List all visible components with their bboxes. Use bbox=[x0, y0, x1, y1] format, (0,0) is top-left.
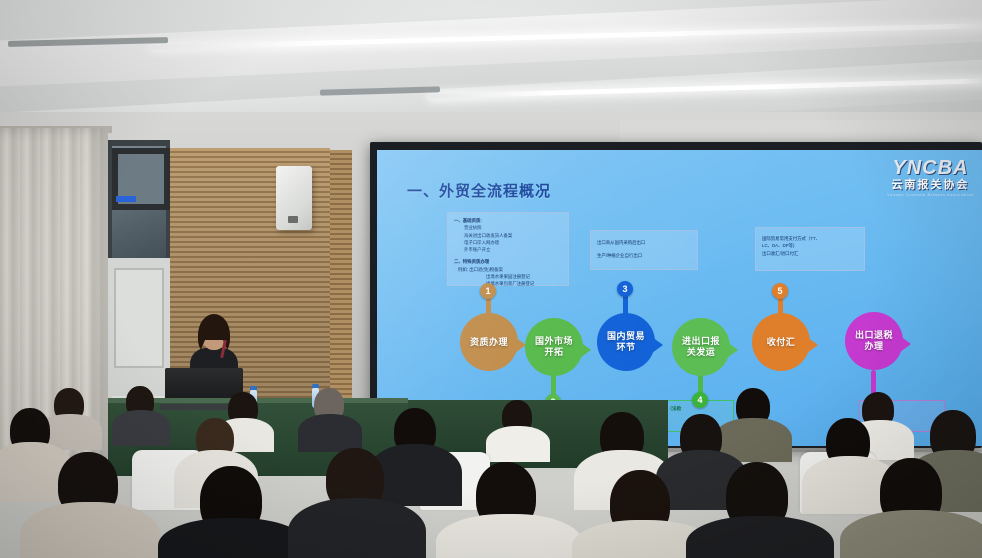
flow-node-6-label: 办理 bbox=[855, 341, 893, 352]
box-line: 一、基础资质: bbox=[454, 217, 562, 224]
box-line: 出口商从国内采购后出口 bbox=[597, 239, 691, 246]
box-line: 海关进出口收发货人备案 bbox=[454, 232, 562, 239]
flow-node-3-label: 国内贸易 bbox=[607, 331, 645, 342]
box-line: 电子口岸入网办理 bbox=[454, 239, 562, 246]
audience-shoulders bbox=[486, 426, 550, 462]
slide-box-domestic-trade: 出口商从国内采购后出口 生产\种植企业自行出口 bbox=[590, 230, 698, 270]
flow-node-4-label: 进出口报 bbox=[682, 336, 720, 347]
flow-node-1-label: 资质办理 bbox=[470, 337, 508, 348]
slide-title: 一、外贸全流程概况 bbox=[407, 180, 551, 201]
box-line: 出境水果果园注册登记 bbox=[454, 273, 562, 280]
box-line: 出境水果包装厂注册登记 bbox=[454, 280, 562, 287]
flow-node-6-label: 出口退税 bbox=[855, 330, 893, 341]
water-bottle-cap bbox=[250, 386, 257, 390]
flow-node-5-label: 收付汇 bbox=[767, 337, 796, 348]
box-line: 生产\种植企业自行出口 bbox=[597, 252, 691, 259]
flow-node-3-bubble: 国内贸易 环节 bbox=[597, 313, 655, 371]
blue-indicator-light bbox=[116, 196, 136, 202]
audience-shoulders-front bbox=[288, 498, 426, 558]
flow-node-2-label: 国外市场 bbox=[535, 336, 573, 347]
audience-shoulders-front bbox=[436, 514, 582, 558]
slide-box-qualification: 一、基础资质: 营业执照 海关进出口收发货人备案 电子口岸入网办理 外币账户开立… bbox=[447, 212, 569, 286]
audience-shoulders-front bbox=[686, 516, 834, 558]
water-bottle-cap bbox=[312, 384, 319, 388]
flow-node-2-label: 开拓 bbox=[535, 347, 573, 358]
box-line: 外币账户开立 bbox=[454, 246, 562, 253]
audience-shoulders-front bbox=[158, 518, 308, 558]
box-line: 国际贸易常用支付方式（TT、 bbox=[762, 235, 858, 242]
flow-node-1-number: 1 bbox=[480, 283, 496, 299]
flow-node-5-bubble: 收付汇 bbox=[752, 313, 810, 371]
association-logo: YNCBA 云南报关协会 Yunnan Customs Brokers Asso… bbox=[887, 158, 974, 197]
logo-english-name: Yunnan Customs Brokers Association bbox=[887, 193, 974, 197]
flow-node-3-label: 环节 bbox=[607, 342, 645, 353]
logo-chinese-name: 云南报关协会 bbox=[887, 180, 974, 191]
box-line: 二、特殊资质办理 bbox=[454, 258, 562, 265]
audience-shoulders-front bbox=[20, 502, 160, 558]
box-line: 例如: 出口退(免)税备案 bbox=[454, 266, 562, 273]
flow-node-4-bubble: 进出口报 关发运 bbox=[672, 318, 730, 376]
box-line: LC、DA、DP等) bbox=[762, 242, 858, 249]
box-line: 营业执照 bbox=[454, 224, 562, 231]
flow-node-2-bubble: 国外市场 开拓 bbox=[525, 318, 583, 376]
flow-node-4-label: 关发运 bbox=[682, 347, 720, 358]
slide-box-payment: 国际贸易常用支付方式（TT、 LC、DA、DP等) 出口收汇/进口付汇 bbox=[755, 227, 865, 271]
audience-shoulders bbox=[112, 410, 170, 446]
flow-node-1-bubble: 资质办理 bbox=[460, 313, 518, 371]
flow-node-3-number: 3 bbox=[617, 281, 633, 297]
flow-node-6-bubble: 出口退税 办理 bbox=[845, 312, 903, 370]
screenshot-scene: 一、外贸全流程概况 YNCBA 云南报关协会 Yunnan Customs Br… bbox=[0, 0, 982, 558]
wall-recess-frame bbox=[114, 268, 164, 368]
flow-node-4-number: 4 bbox=[692, 392, 708, 408]
loudspeaker-badge bbox=[288, 216, 298, 223]
box-line: 出口收汇/进口付汇 bbox=[762, 250, 858, 257]
audience-shoulders bbox=[298, 414, 362, 452]
audience-shoulders-front bbox=[840, 510, 982, 558]
logo-wordmark: YNCBA bbox=[887, 158, 974, 178]
flow-node-5-number: 5 bbox=[772, 283, 788, 299]
